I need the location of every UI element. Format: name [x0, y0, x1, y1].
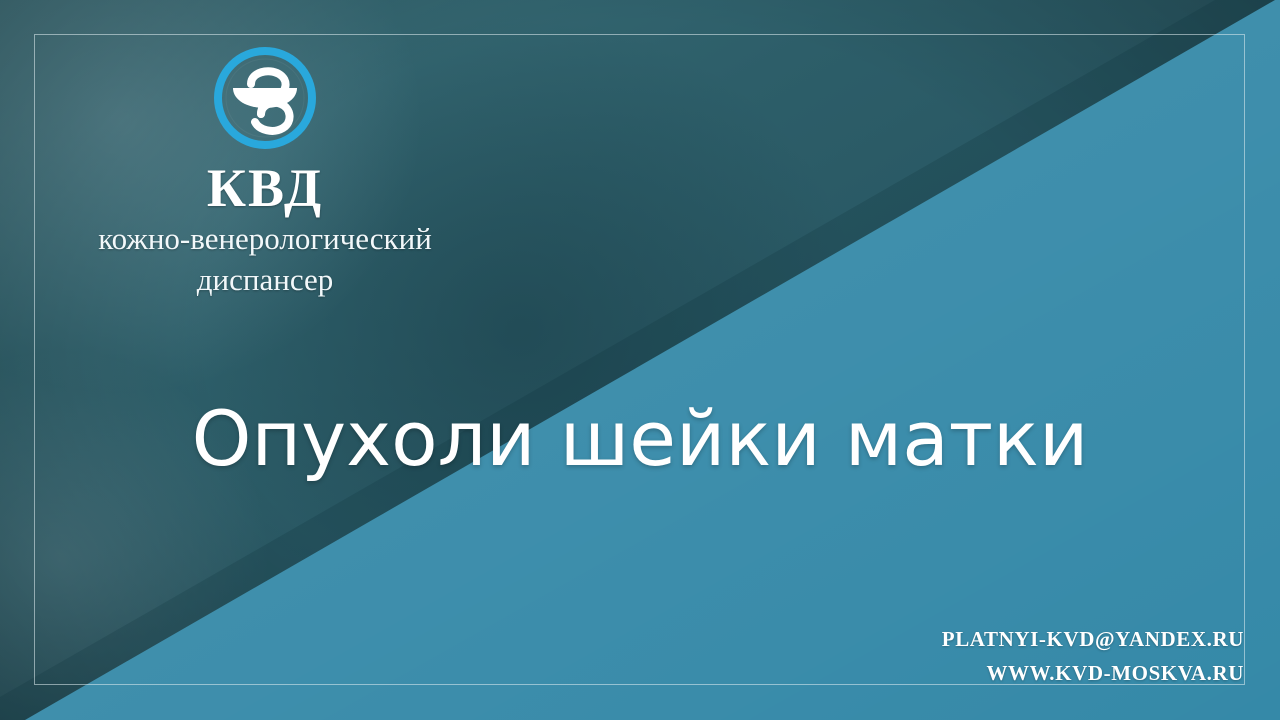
slide-title: Опухоли шейки матки — [0, 398, 1280, 480]
brand-abbreviation: КВД — [0, 160, 530, 217]
presentation-slide: КВД кожно-венерологический диспансер Опу… — [0, 0, 1280, 720]
kvd-logo — [211, 44, 319, 152]
brand-full-name-line-1: кожно-венерологический — [0, 219, 530, 260]
brand-block: КВД кожно-венерологический диспансер — [0, 44, 530, 301]
contact-info: PLATNYI-KVD@YANDEX.RU WWW.KVD-MOSKVA.RU — [942, 622, 1244, 690]
bowl-of-hygieia-icon — [211, 44, 319, 152]
contact-email[interactable]: PLATNYI-KVD@YANDEX.RU — [942, 622, 1244, 656]
contact-website[interactable]: WWW.KVD-MOSKVA.RU — [942, 656, 1244, 690]
brand-full-name: кожно-венерологический диспансер — [0, 219, 530, 301]
brand-full-name-line-2: диспансер — [0, 260, 530, 301]
